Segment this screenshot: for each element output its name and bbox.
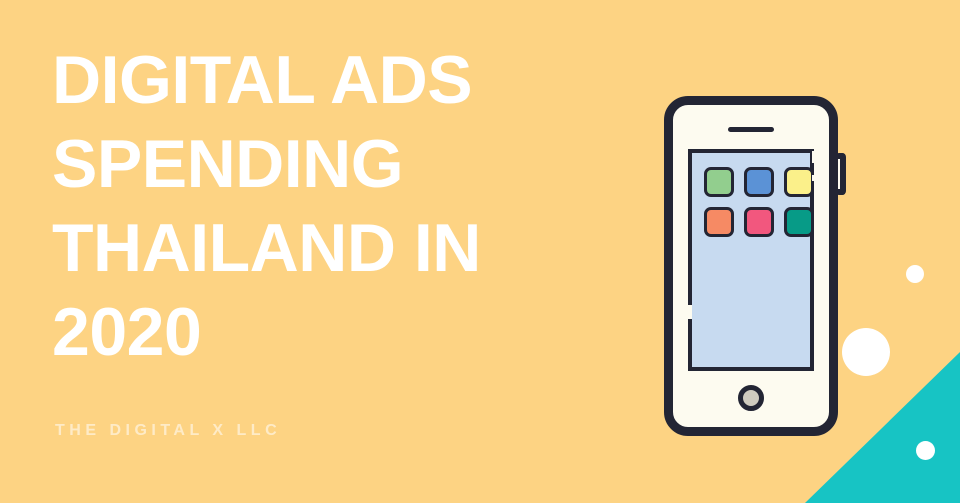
headline-block: DIGITAL ADS SPENDING THAILAND IN 2020 [52,38,652,374]
poster-canvas: DIGITAL ADS SPENDING THAILAND IN 2020 TH… [0,0,960,503]
headline-line-4: 2020 [52,290,652,374]
smartphone-illustration [664,96,838,436]
phone-body [664,96,838,436]
phone-home-button-icon [738,385,764,411]
headline-line-1: DIGITAL ADS [52,38,652,122]
screen-border-gap [812,175,818,181]
app-icon-yellow [784,167,814,197]
decor-dot-small [906,265,924,283]
screen-border-gap [812,151,818,163]
phone-speaker-icon [728,127,774,132]
screen-border-gap [686,305,692,319]
decor-dot-on-triangle [916,441,935,460]
app-icon-green [704,167,734,197]
app-icon-teal [784,207,814,237]
phone-screen [688,149,814,371]
headline-line-2: SPENDING [52,122,652,206]
app-icon-orange [704,207,734,237]
app-icon-pink [744,207,774,237]
brand-subtitle: THE DIGITAL X LLC [55,422,281,440]
decor-dot-large [842,328,890,376]
app-icon-blue [744,167,774,197]
headline-line-3: THAILAND IN [52,206,652,290]
app-icon-grid [704,167,814,237]
